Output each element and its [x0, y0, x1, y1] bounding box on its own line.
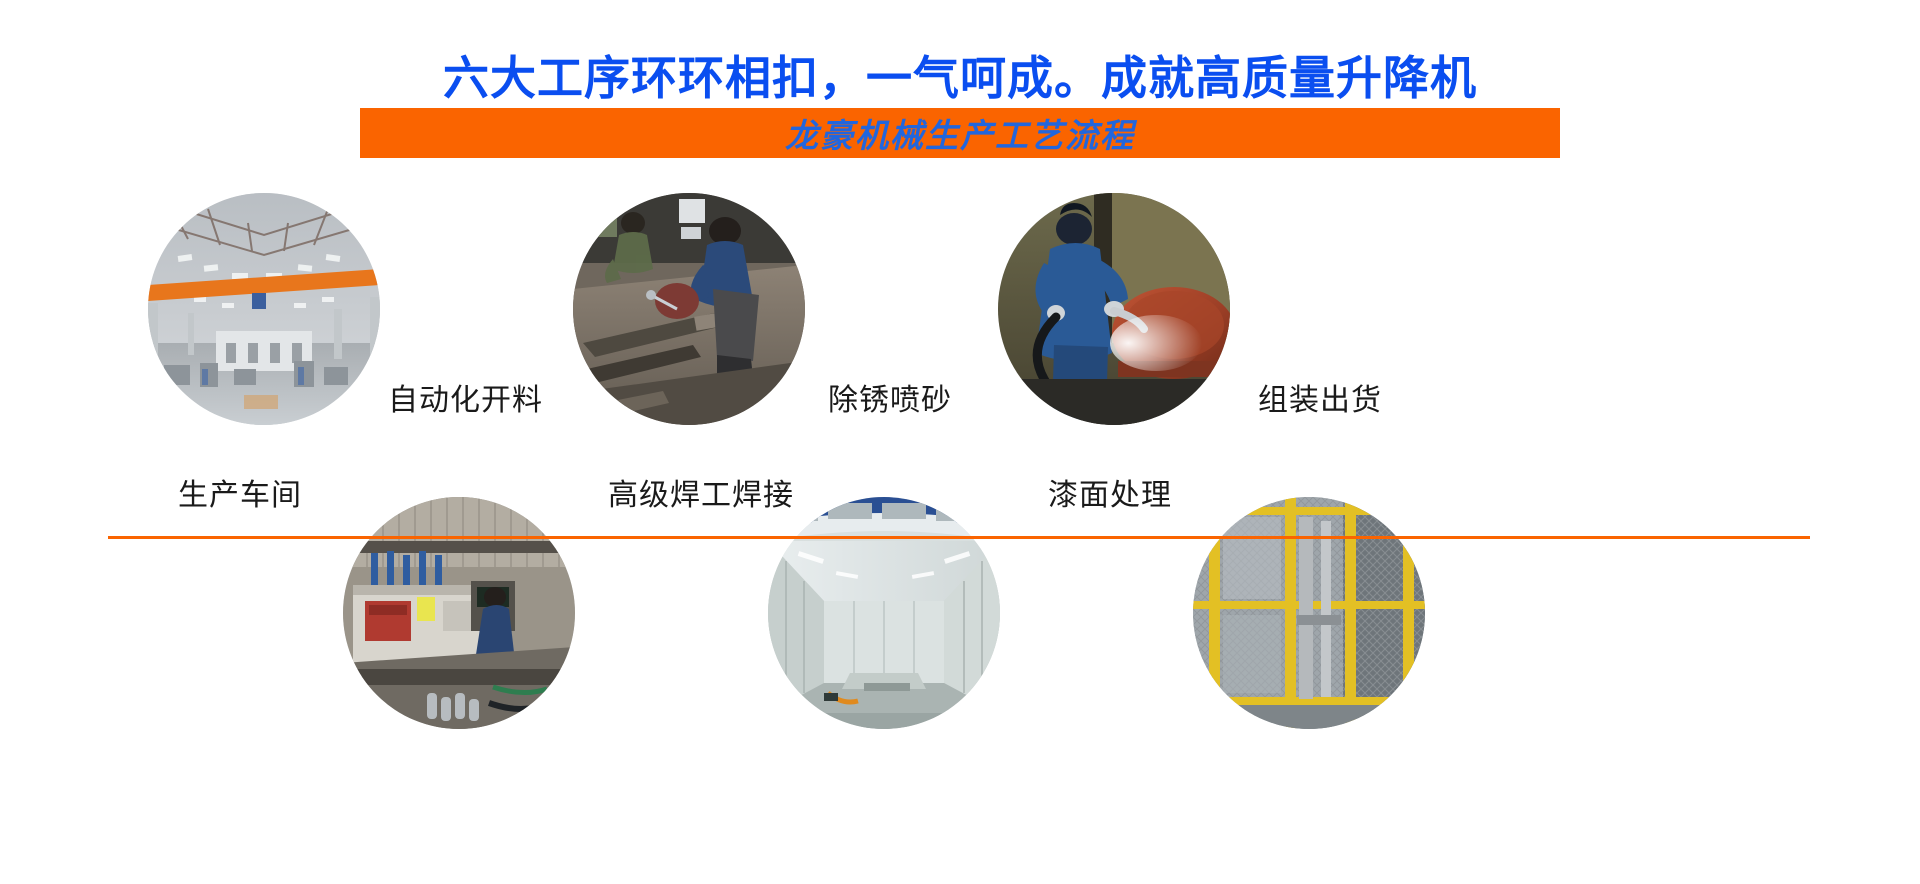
- subtitle-banner-label: 龙豪机械生产工艺流程: [785, 109, 1135, 157]
- assembly-shipping-photo: [1193, 497, 1425, 729]
- workshop-interior-photo: [148, 193, 380, 425]
- step-label-sandblasting: 除锈喷砂: [828, 375, 952, 419]
- page-title: 六大工序环环相扣，一气呵成。成就高质量升降机: [0, 42, 1920, 108]
- step-label-cutting: 自动化开料: [388, 375, 543, 419]
- step-label-welding: 高级焊工焊接: [608, 470, 794, 514]
- paint-booth-photo: [768, 497, 1000, 729]
- subtitle-banner: 龙豪机械生产工艺流程: [360, 108, 1560, 158]
- step-label-assembly: 组装出货: [1258, 375, 1382, 419]
- section-divider: [108, 536, 1810, 539]
- sandblasting-photo: [998, 193, 1230, 425]
- automatic-cutting-photo: [573, 193, 805, 425]
- step-label-workshop: 生产车间: [178, 470, 302, 514]
- senior-welder-photo: [343, 497, 575, 729]
- process-flow-poster: 六大工序环环相扣，一气呵成。成就高质量升降机 龙豪机械生产工艺流程: [0, 0, 1920, 884]
- step-label-painting: 漆面处理: [1048, 470, 1172, 514]
